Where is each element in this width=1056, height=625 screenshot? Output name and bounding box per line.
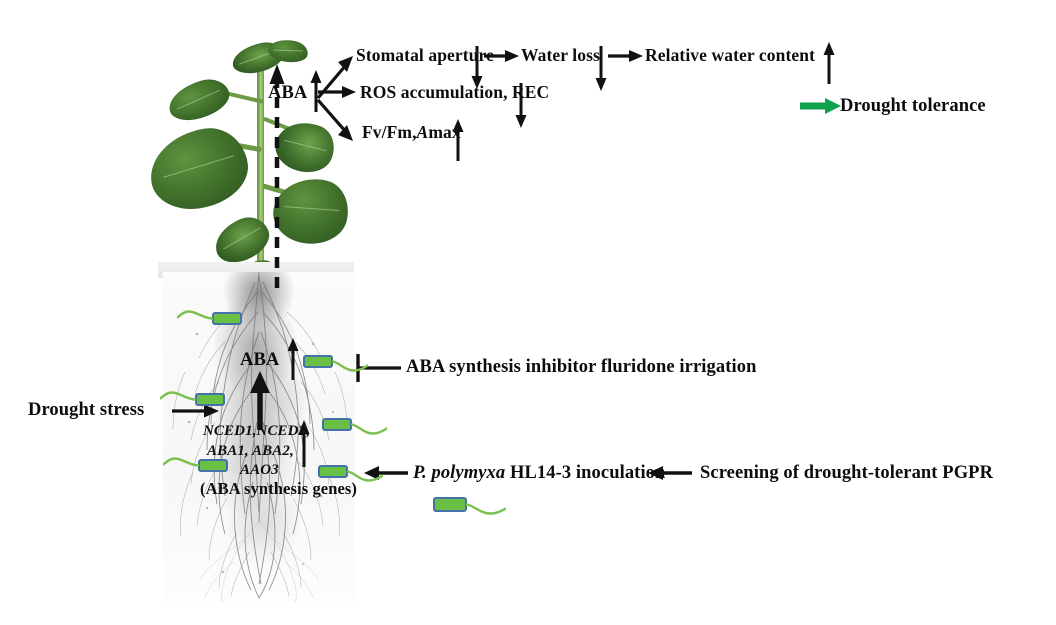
figure-canvas: ABA Stomatal aperture Water loss Relativ… — [0, 0, 1056, 625]
bacteria-flagellum — [322, 412, 387, 443]
bacteria-flagellum — [318, 459, 383, 490]
bacteria-flagellum — [303, 349, 368, 380]
bacteria-icon — [177, 306, 242, 337]
bacteria-flagellum — [160, 387, 225, 418]
bacteria-icon — [433, 491, 506, 524]
bacteria-icon — [303, 349, 368, 380]
bacteria-flagellum — [433, 491, 506, 524]
bacteria-flagellum — [177, 306, 242, 337]
bacteria-flagellum — [163, 453, 228, 484]
bacteria-icon — [163, 453, 228, 484]
bacteria-icon — [322, 412, 387, 443]
bacteria-icon — [160, 387, 225, 418]
bacteria-layer — [0, 0, 1056, 625]
bacteria-icon — [318, 459, 383, 490]
